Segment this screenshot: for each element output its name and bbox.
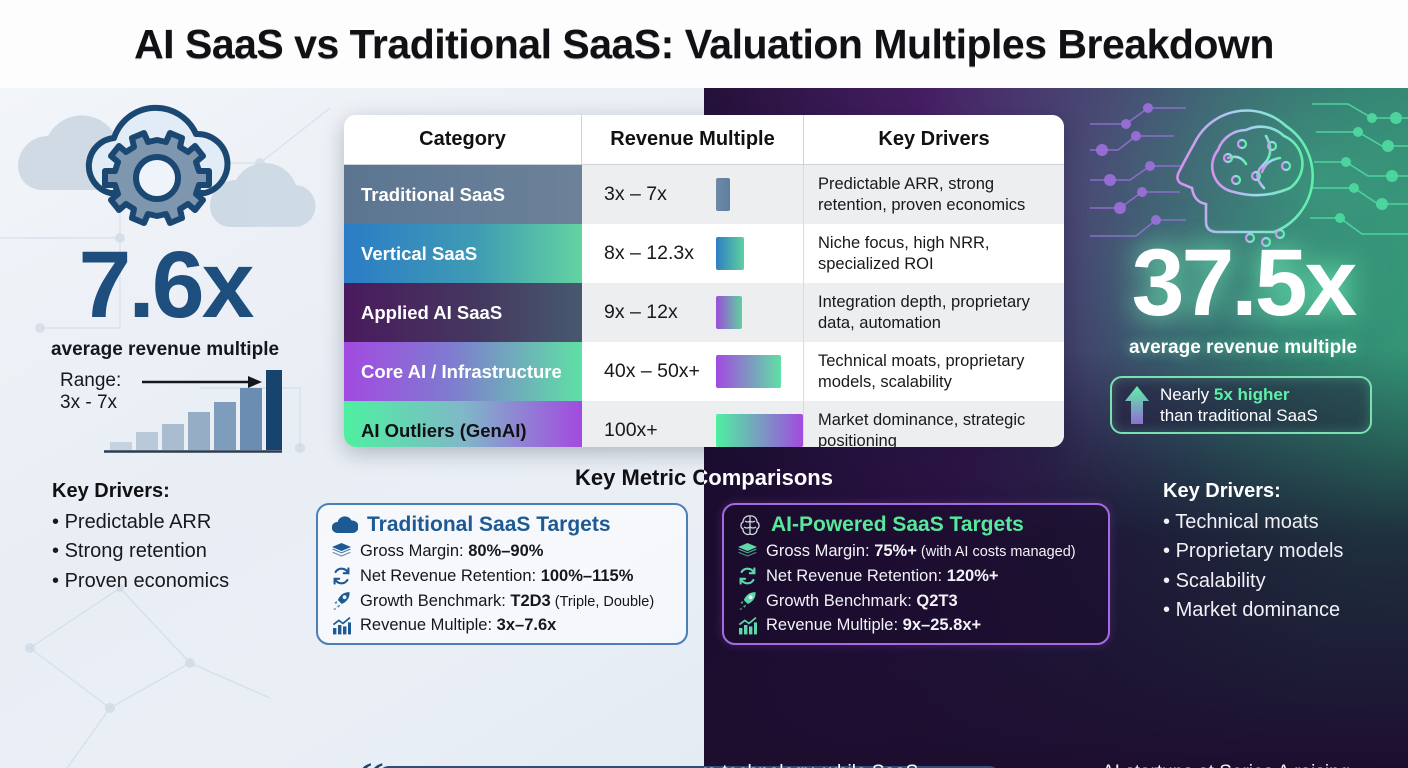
multiple-bar: [716, 414, 803, 447]
multiple-value: 3x – 7x: [604, 183, 716, 206]
ai-stat-value: 37.5x: [1078, 236, 1408, 331]
metric-text: Growth Benchmark: Q2T3: [766, 589, 958, 614]
ai-comparison-callout: Nearly 5x higher than traditional SaaS: [1110, 376, 1372, 434]
series-a-footer: AI startups at Series A raising at valua…: [1022, 760, 1408, 768]
section-heading: Key Metric Comparisons Key Metric Compar…: [0, 463, 1408, 493]
layers-icon: [738, 543, 757, 560]
metric-row: Net Revenue Retention: 120%+: [724, 564, 1108, 589]
table-row: Core AI / Infrastructure40x – 50x+Techni…: [344, 342, 1064, 401]
footer-text: AI startups at Series A raising at valua…: [1102, 759, 1350, 768]
multiple-bar: [716, 178, 730, 211]
list-item: Strong retention: [52, 537, 342, 566]
ai-saas-targets-card: AI-Powered SaaS Targets Gross Margin: 75…: [722, 503, 1110, 645]
metric-row: Revenue Multiple: 3x–7.6x: [318, 613, 686, 638]
arrow-up-icon: [1124, 385, 1150, 425]
range-label: Range: 3x - 7x: [60, 370, 121, 414]
metric-row: Revenue Multiple: 9x–25.8x+: [724, 613, 1108, 638]
quote-mark-icon: “: [358, 756, 384, 768]
cell-revenue-multiple: 9x – 12x: [582, 283, 804, 342]
metric-row: Gross Margin: 75%+ (with AI costs manage…: [724, 539, 1108, 564]
callout-prefix: Nearly: [1160, 385, 1214, 404]
metric-label: Growth Benchmark:: [360, 592, 510, 610]
infographic-stage: 7.6x average revenue multiple: [0, 88, 1408, 768]
ai-callout-text: Nearly 5x higher than traditional SaaS: [1160, 384, 1318, 427]
retention-cycle-icon: [738, 567, 757, 585]
table-body: Traditional SaaS3x – 7xPredictable ARR, …: [344, 165, 1064, 447]
ai-metrics-list: Gross Margin: 75%+ (with AI costs manage…: [724, 539, 1108, 638]
metric-note: (Triple, Double): [551, 594, 654, 610]
ai-card-title: AI-Powered SaaS Targets: [771, 513, 1024, 537]
metric-value: Q2T3: [916, 592, 957, 610]
title-bar: AI SaaS vs Traditional SaaS: Valuation M…: [0, 0, 1408, 88]
column-header-category: Category: [344, 115, 582, 165]
brain-icon: [738, 514, 762, 536]
cell-key-drivers: Technical moats, proprietary models, sca…: [804, 342, 1064, 401]
cell-category: Vertical SaaS: [344, 224, 582, 283]
multiple-bar: [716, 355, 781, 388]
list-item: Predictable ARR: [52, 508, 342, 537]
traditional-metrics-list: Gross Margin: 80%–90%Net Revenue Retenti…: [318, 539, 686, 638]
metric-value: 120%+: [947, 567, 999, 585]
traditional-card-header: Traditional SaaS Targets: [318, 505, 686, 539]
metric-note: (with AI costs managed): [917, 544, 1076, 560]
metric-label: Gross Margin:: [360, 542, 468, 560]
traditional-card-title: Traditional SaaS Targets: [367, 513, 611, 537]
cell-key-drivers: Niche focus, high NRR, specialized ROI: [804, 224, 1064, 283]
range-label-line2: 3x - 7x: [60, 392, 121, 414]
table-row: AI Outliers (GenAI)100x+Market dominance…: [344, 401, 1064, 447]
layers-icon: [332, 543, 351, 560]
range-label-line1: Range:: [60, 370, 121, 392]
metric-label: Net Revenue Retention:: [360, 567, 541, 585]
metric-value: 3x–7.6x: [497, 616, 557, 634]
cell-revenue-multiple: 3x – 7x: [582, 165, 804, 224]
metric-row: Growth Benchmark: T2D3 (Triple, Double): [318, 589, 686, 614]
cell-category: Traditional SaaS: [344, 165, 582, 224]
cell-revenue-multiple: 100x+: [582, 401, 804, 447]
metric-label: Growth Benchmark:: [766, 592, 916, 610]
traditional-average-multiple-stat: 7.6x average revenue multiple: [0, 238, 330, 361]
ai-card-header: AI-Powered SaaS Targets: [724, 505, 1108, 539]
metric-value: 75%+: [874, 542, 917, 560]
metric-text: Net Revenue Retention: 120%+: [766, 564, 999, 589]
traditional-range-chart: Range: 3x - 7x: [52, 368, 282, 458]
ai-key-drivers-list: Technical moats Proprietary models Scala…: [1163, 508, 1408, 626]
cell-category: AI Outliers (GenAI): [344, 401, 582, 447]
metric-label: Revenue Multiple:: [360, 616, 497, 634]
multiple-value: 40x – 50x+: [604, 360, 716, 383]
metric-row: Gross Margin: 80%–90%: [318, 539, 686, 564]
footer-line1: AI startups at Series A raising: [1102, 759, 1350, 768]
metric-label: Gross Margin:: [766, 542, 874, 560]
rocket-icon: [332, 591, 351, 610]
metric-text: Gross Margin: 75%+ (with AI costs manage…: [766, 539, 1076, 564]
ai-average-multiple-stat: 37.5x average revenue multiple: [1078, 236, 1408, 359]
callout-highlight: 5x higher: [1214, 385, 1290, 404]
metric-value: T2D3: [510, 592, 550, 610]
ai-stat-label: average revenue multiple: [1078, 337, 1408, 359]
traditional-saas-targets-card: Traditional SaaS Targets Gross Margin: 8…: [316, 503, 688, 645]
metric-text: Growth Benchmark: T2D3 (Triple, Double): [360, 589, 654, 614]
cell-category: Applied AI SaaS: [344, 283, 582, 342]
metric-row: Growth Benchmark: Q2T3: [724, 589, 1108, 614]
metric-value: 9x–25.8x+: [903, 616, 981, 634]
traditional-key-drivers-list: Predictable ARR Strong retention Proven …: [52, 508, 342, 596]
multiple-value: 8x – 12.3x: [604, 242, 716, 265]
cloud-icon: [332, 516, 358, 534]
bar-chart-icon: [738, 617, 757, 635]
metric-text: Revenue Multiple: 9x–25.8x+: [766, 613, 981, 638]
metric-row: Net Revenue Retention: 100%–115%: [318, 564, 686, 589]
traditional-stat-value: 7.6x: [0, 238, 330, 333]
list-item: Proven economics: [52, 567, 342, 596]
column-header-key-drivers: Key Drivers: [804, 115, 1064, 165]
cell-category: Core AI / Infrastructure: [344, 342, 582, 401]
metric-text: Net Revenue Retention: 100%–115%: [360, 564, 633, 589]
metric-text: Gross Margin: 80%–90%: [360, 539, 543, 564]
table-row: Traditional SaaS3x – 7xPredictable ARR, …: [344, 165, 1064, 224]
table-row: Applied AI SaaS9x – 12xIntegration depth…: [344, 283, 1064, 342]
metric-label: Net Revenue Retention:: [766, 567, 947, 585]
multiple-value: 100x+: [604, 419, 716, 442]
rocket-icon: [738, 591, 757, 610]
metric-value: 80%–90%: [468, 542, 543, 560]
metric-text: Revenue Multiple: 3x–7.6x: [360, 613, 556, 638]
valuation-multiples-table: Category Revenue Multiple Key Drivers Tr…: [344, 115, 1064, 447]
cell-key-drivers: Predictable ARR, strong retention, prove…: [804, 165, 1064, 224]
multiple-value: 9x – 12x: [604, 301, 716, 324]
metric-value: 100%–115%: [541, 567, 634, 585]
multiple-bar: [716, 237, 744, 270]
list-item: Scalability: [1163, 567, 1408, 596]
cell-key-drivers: Market dominance, strategic positioning: [804, 401, 1064, 447]
ai-brain-circuit-icon: [1090, 88, 1408, 250]
cell-revenue-multiple: 8x – 12.3x: [582, 224, 804, 283]
list-item: Proprietary models: [1163, 537, 1408, 566]
metric-label: Revenue Multiple:: [766, 616, 903, 634]
multiple-bar: [716, 296, 742, 329]
bar-chart-icon: [332, 617, 351, 635]
cell-revenue-multiple: 40x – 50x+: [582, 342, 804, 401]
page-title: AI SaaS vs Traditional SaaS: Valuation M…: [134, 21, 1274, 68]
cell-key-drivers: Integration depth, proprietary data, aut…: [804, 283, 1064, 342]
list-item: Technical moats: [1163, 508, 1408, 537]
list-item: Market dominance: [1163, 596, 1408, 625]
retention-cycle-icon: [332, 567, 351, 585]
column-header-revenue-multiple: Revenue Multiple: [582, 115, 804, 165]
traditional-key-drivers: Key Drivers: Predictable ARR Strong rete…: [52, 480, 342, 596]
traditional-stat-label: average revenue multiple: [0, 339, 330, 361]
table-header-row: Category Revenue Multiple Key Drivers: [344, 115, 1064, 165]
cloud-gear-icon: [0, 88, 345, 248]
table-row: Vertical SaaS8x – 12.3xNiche focus, high…: [344, 224, 1064, 283]
ai-key-drivers: Key Drivers: Technical moats Proprietary…: [1163, 480, 1408, 626]
callout-line2: than traditional SaaS: [1160, 405, 1318, 426]
